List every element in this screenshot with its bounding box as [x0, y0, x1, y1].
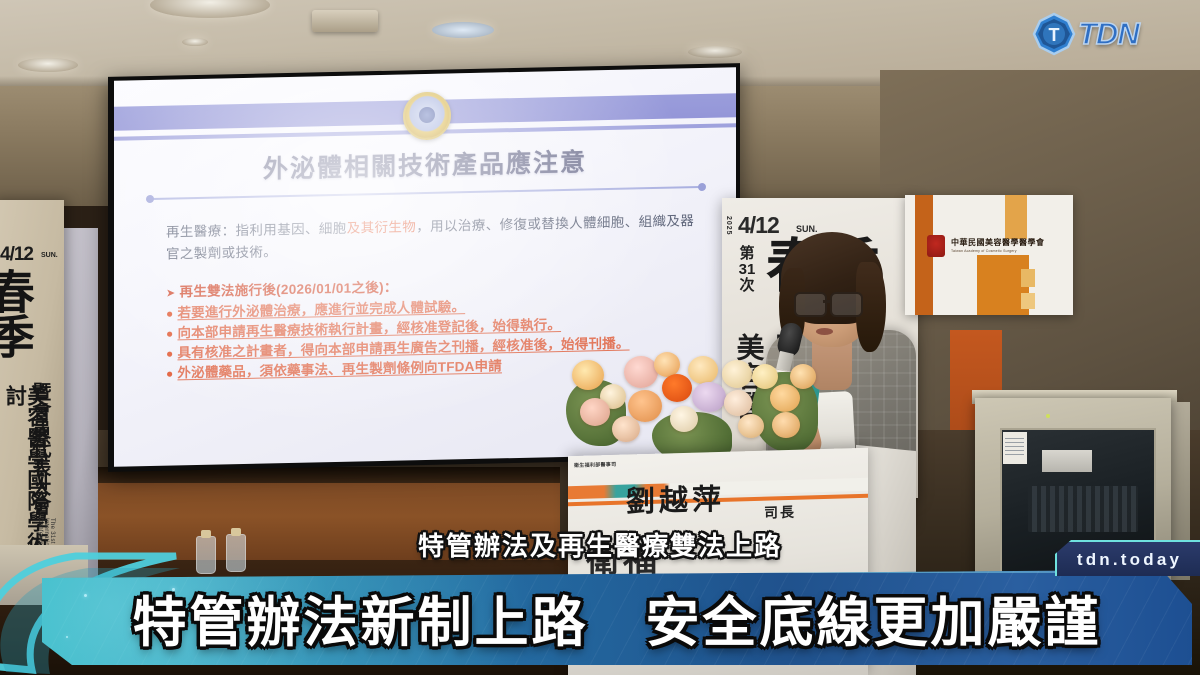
downlight-icon: [18, 58, 78, 72]
society-name: 中華民國美容醫學醫學會: [951, 237, 1045, 248]
bullet-dot-icon: ●: [166, 325, 173, 343]
glasses-icon: [794, 292, 827, 317]
society-subname: Taiwan Academy of Cosmetic Surgery: [951, 249, 1017, 253]
society-logo-panel: 中華民國美容醫學醫學會 Taiwan Academy of Cosmetic S…: [905, 195, 1073, 315]
backdrop-weekday: SUN.: [796, 224, 818, 234]
bullet-dot-icon: ●: [166, 365, 173, 383]
channel-logo: T TDN: [1032, 12, 1188, 56]
speaker-mouth: [816, 328, 833, 335]
slide-title: 外泌體相關技術產品應注意: [114, 139, 736, 189]
speaker-title: 司長: [764, 502, 796, 523]
av-rack-panel: [1042, 450, 1092, 472]
main-headline: 特管辦法新制上路 安全底線更加嚴謹: [42, 570, 1192, 665]
panel-bar: [1021, 293, 1035, 309]
downlight-icon: [182, 38, 208, 46]
podium-org-tag: 衛生福利部醫事司: [574, 461, 616, 469]
tdn-badge-icon: T: [1032, 12, 1076, 56]
slide-paragraph-highlight: 及其衍生物: [347, 219, 417, 236]
downlight-icon: [688, 46, 742, 58]
watermark-tab: tdn.today: [1055, 540, 1200, 578]
av-rack-notice: [1003, 432, 1027, 464]
svg-text:T: T: [1049, 25, 1060, 45]
glasses-bridge: [823, 300, 831, 303]
bullet-dot-icon: ●: [166, 305, 173, 323]
society-seal-icon: [927, 235, 945, 257]
slide-paragraph-lead: 再生醫療：指利用基因、細胞: [166, 221, 347, 240]
poster-left-weekday: SUN.: [41, 252, 58, 259]
chevron-right-icon: ➤: [166, 287, 176, 299]
divider-dot-left: [146, 195, 154, 203]
panel-bar: [1005, 195, 1027, 239]
slide-section-heading-text: 再生雙法施行後(2026/01/01之後)：: [180, 279, 398, 299]
poster-left-date: 4/12: [0, 244, 33, 266]
poster-left-season: 春季: [0, 268, 30, 358]
divider-dot-right: [698, 183, 706, 191]
downlight-icon: [432, 22, 494, 38]
speaker-nameplate: 劉越萍: [626, 476, 725, 521]
status-led: [1046, 414, 1050, 418]
tdn-wordmark: TDN: [1078, 16, 1139, 52]
backdrop-year: 2025: [725, 216, 732, 236]
slide-divider: [152, 186, 700, 200]
glasses-icon: [830, 292, 863, 317]
backdrop-ordinal: 第31次: [732, 246, 762, 293]
bullet-dot-icon: ●: [166, 345, 173, 363]
poster-left-column-2: 暨會員代表大會: [30, 382, 49, 515]
watermark-text: tdn.today: [1077, 550, 1182, 570]
lower-third-banner: 特管辦法新制上路 安全底線更加嚴謹: [42, 570, 1192, 665]
slide-paragraph: 再生醫療：指利用基因、細胞及其衍生物，用以治療、修復或替換人體細胞、組織及器官之…: [166, 210, 696, 265]
ceiling-speaker: [312, 10, 378, 32]
panel-bar: [1021, 269, 1035, 287]
list-item-text: 若要進行外泌體治療，應進行並完成人體試驗。: [177, 299, 465, 320]
broadcast-screenshot: 2025 4/12 SUN. 春季 美容醫學國際學術研討 暨會員代表大會 The…: [0, 0, 1200, 675]
